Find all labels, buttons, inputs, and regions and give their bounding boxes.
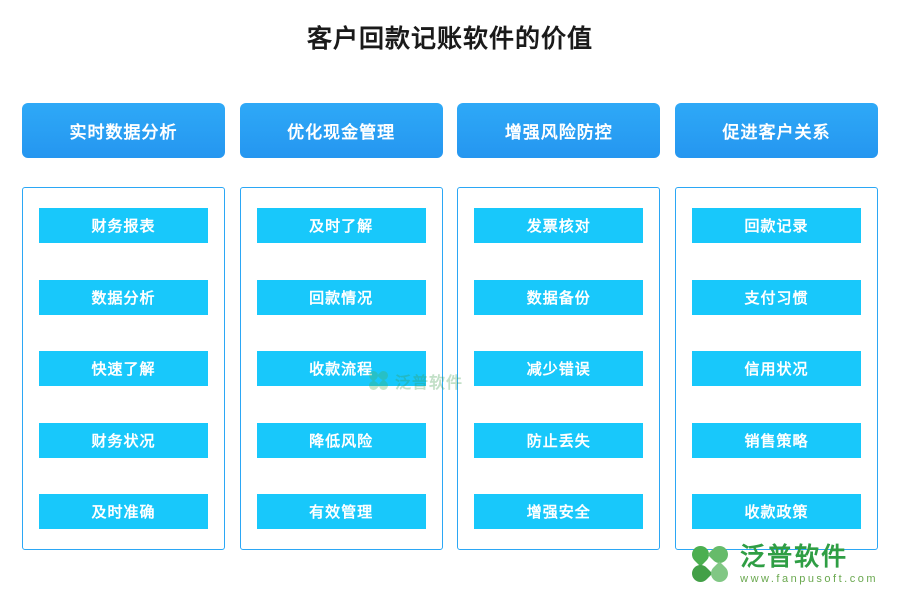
list-item[interactable]: 降低风险 — [257, 423, 426, 458]
list-item[interactable]: 发票核对 — [474, 208, 643, 243]
page-title: 客户回款记账软件的价值 — [0, 0, 900, 52]
brand-logo: 泛普软件 www.fanpusoft.com — [690, 544, 878, 586]
column-header-1[interactable]: 实时数据分析 — [22, 103, 225, 158]
brand-name: 泛普软件 — [740, 545, 878, 570]
column-body-3: 发票核对 数据备份 减少错误 防止丢失 增强安全 — [457, 187, 660, 550]
column-2: 优化现金管理 及时了解 回款情况 收款流程 降低风险 有效管理 — [240, 103, 443, 550]
columns-container: 实时数据分析 财务报表 数据分析 快速了解 财务状况 及时准确 优化现金管理 及… — [22, 103, 878, 550]
list-item[interactable]: 回款记录 — [692, 208, 861, 243]
column-header-4[interactable]: 促进客户关系 — [675, 103, 878, 158]
list-item[interactable]: 财务报表 — [39, 208, 208, 243]
list-item[interactable]: 快速了解 — [39, 351, 208, 386]
list-item[interactable]: 财务状况 — [39, 423, 208, 458]
column-header-2[interactable]: 优化现金管理 — [240, 103, 443, 158]
list-item[interactable]: 支付习惯 — [692, 280, 861, 315]
list-item[interactable]: 有效管理 — [257, 494, 426, 529]
list-item[interactable]: 收款政策 — [692, 494, 861, 529]
list-item[interactable]: 增强安全 — [474, 494, 643, 529]
list-item[interactable]: 收款流程 — [257, 351, 426, 386]
column-4: 促进客户关系 回款记录 支付习惯 信用状况 销售策略 收款政策 — [675, 103, 878, 550]
list-item[interactable]: 销售策略 — [692, 423, 861, 458]
list-item[interactable]: 防止丢失 — [474, 423, 643, 458]
column-1: 实时数据分析 财务报表 数据分析 快速了解 财务状况 及时准确 — [22, 103, 225, 550]
brand-url: www.fanpusoft.com — [740, 574, 878, 585]
list-item[interactable]: 信用状况 — [692, 351, 861, 386]
list-item[interactable]: 数据备份 — [474, 280, 643, 315]
list-item[interactable]: 及时了解 — [257, 208, 426, 243]
list-item[interactable]: 减少错误 — [474, 351, 643, 386]
brand-logo-text: 泛普软件 www.fanpusoft.com — [740, 545, 878, 585]
column-body-4: 回款记录 支付习惯 信用状况 销售策略 收款政策 — [675, 187, 878, 550]
column-body-1: 财务报表 数据分析 快速了解 财务状况 及时准确 — [22, 187, 225, 550]
column-body-2: 及时了解 回款情况 收款流程 降低风险 有效管理 — [240, 187, 443, 550]
list-item[interactable]: 及时准确 — [39, 494, 208, 529]
list-item[interactable]: 回款情况 — [257, 280, 426, 315]
column-header-3[interactable]: 增强风险防控 — [457, 103, 660, 158]
column-3: 增强风险防控 发票核对 数据备份 减少错误 防止丢失 增强安全 — [457, 103, 660, 550]
leaf-clover-icon — [690, 544, 732, 586]
list-item[interactable]: 数据分析 — [39, 280, 208, 315]
